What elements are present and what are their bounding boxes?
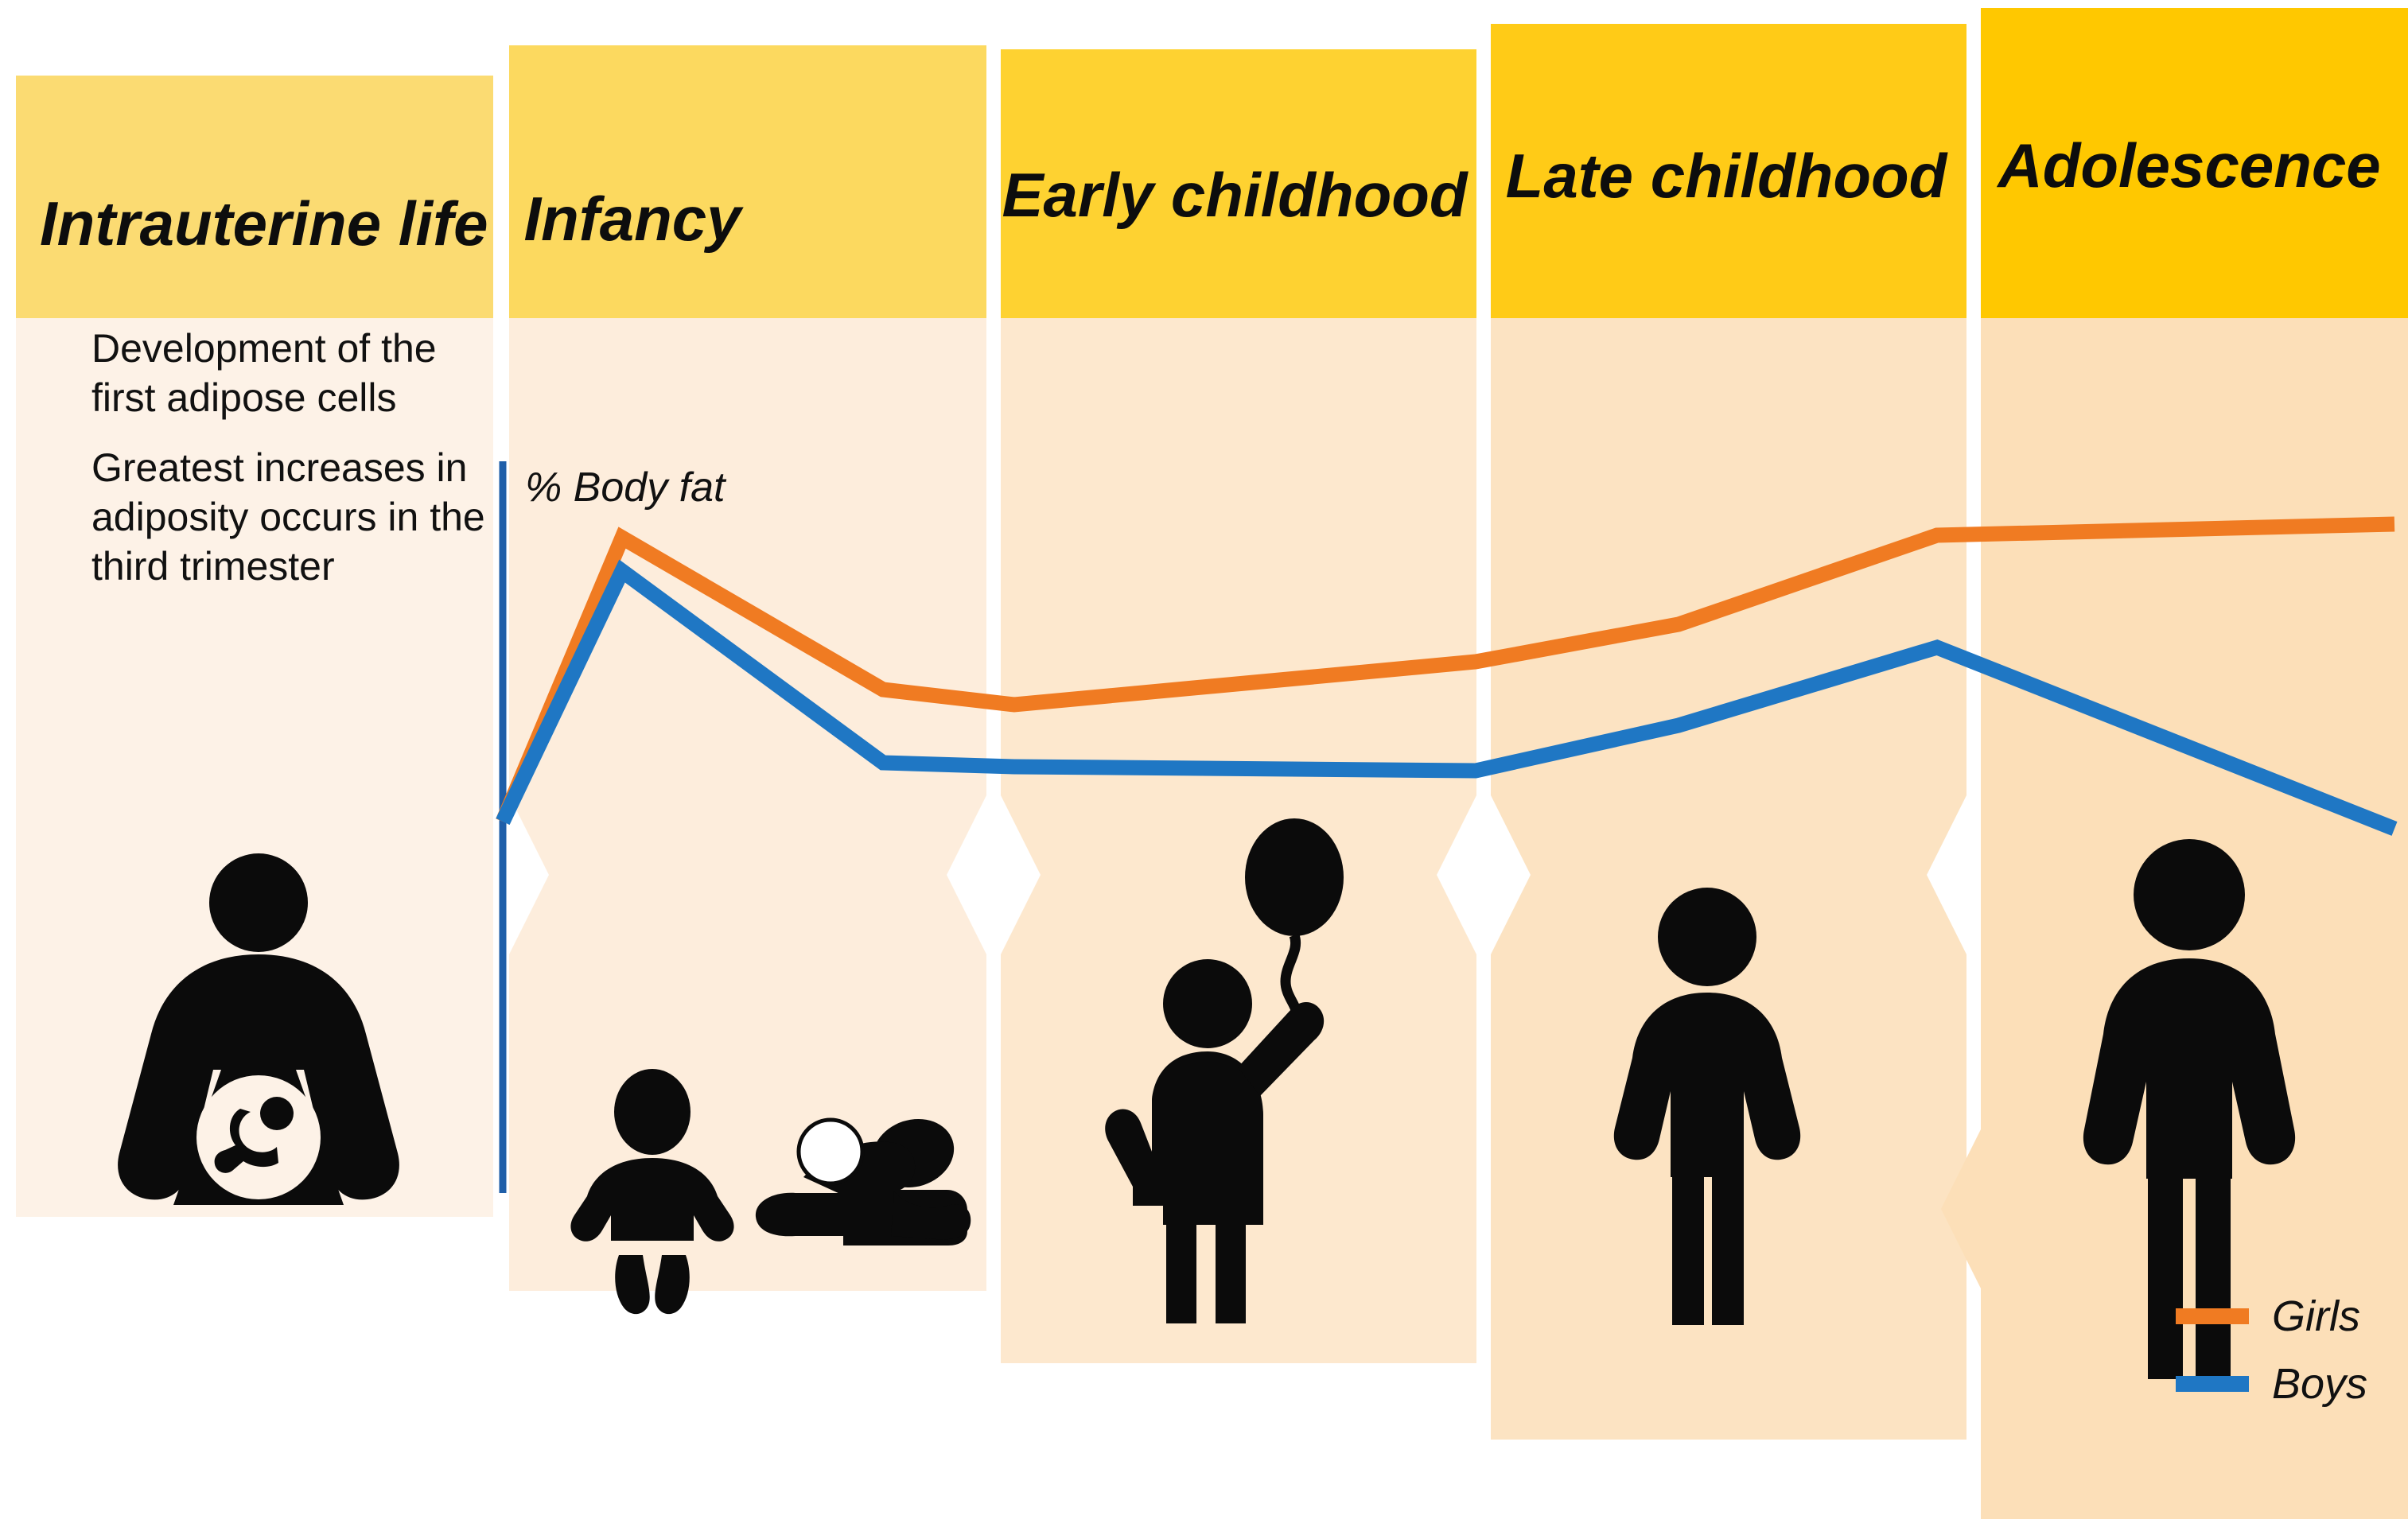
panel-header-label-intrauterine-life: Intrauterine life [40,188,488,258]
legend-swatch-boys [2176,1376,2249,1392]
panel-header-label-late-childhood: Late childhood [1506,141,1948,211]
panel-header-label-infancy: Infancy [523,184,744,254]
panel-header-label-adolescence: Adolescence [1996,130,2380,200]
infographic-canvas: Intrauterine life Infancy Early childhoo… [0,0,2408,1535]
y-axis-label: % Body fat [525,464,727,511]
body-fat-lifecourse-figure: Intrauterine life Infancy Early childhoo… [0,0,2408,1535]
legend-label-girls: Girls [2272,1292,2360,1340]
panel-header-infancy [509,45,986,318]
panel-header-label-early-childhood: Early childhood [1002,160,1468,230]
legend-label-boys: Boys [2272,1360,2367,1408]
legend-swatch-girls [2176,1308,2249,1324]
